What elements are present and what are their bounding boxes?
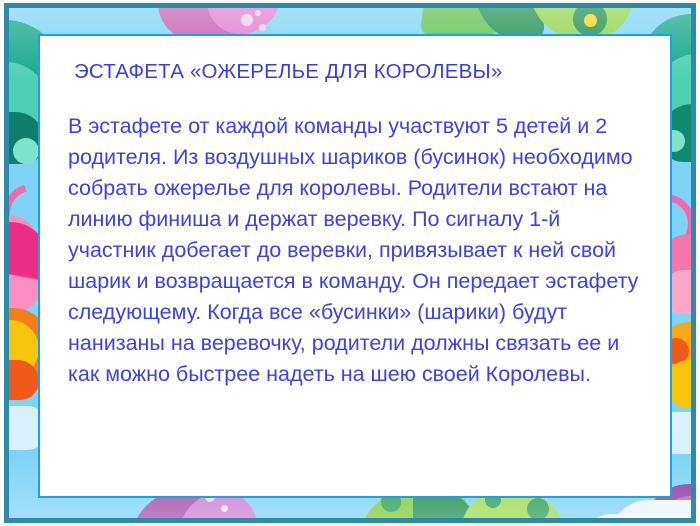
butterfly-spot-icon xyxy=(255,10,261,16)
butterfly-spot-icon xyxy=(241,14,253,26)
decorative-frame: ЭСТАФЕТА «ОЖЕРЕЛЬЕ ДЛЯ КОРОЛЕВЫ» В эстаф… xyxy=(4,3,696,523)
yellow-dot-icon xyxy=(584,14,597,27)
slide: ЭСТАФЕТА «ОЖЕРЕЛЬЕ ДЛЯ КОРОЛЕВЫ» В эстаф… xyxy=(0,0,700,526)
teal-dot-icon xyxy=(13,138,39,164)
white-cloud-icon xyxy=(609,500,691,518)
slide-body: В эстафете от каждой команды участвуют 5… xyxy=(68,111,642,390)
butterfly-spot-icon xyxy=(221,505,228,512)
slide-title: ЭСТАФЕТА «ОЖЕРЕЛЬЕ ДЛЯ КОРОЛЕВЫ» xyxy=(74,60,670,84)
green-spot-icon xyxy=(527,498,549,518)
butterfly-spot-icon xyxy=(259,24,266,31)
slide-body-paragraph: В эстафете от каждой команды участвуют 5… xyxy=(68,111,642,390)
content-card: ЭСТАФЕТА «ОЖЕРЕЛЬЕ ДЛЯ КОРОЛЕВЫ» В эстаф… xyxy=(38,34,672,498)
